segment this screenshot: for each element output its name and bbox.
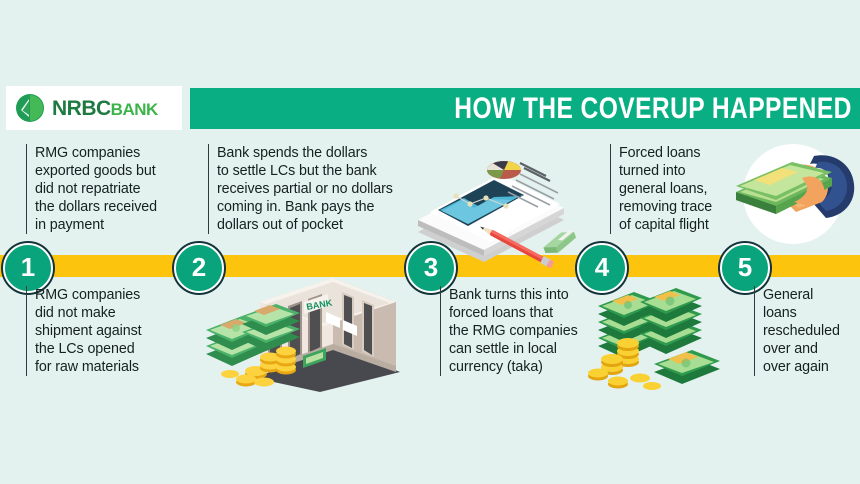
step-1-bottom-text: RMG companies did not make shipment agai…	[26, 286, 196, 376]
step-5-bottom-text: General loans rescheduled over and over …	[754, 286, 859, 376]
header-bar: HOW THE COVERUP HAPPENED	[190, 88, 860, 129]
step-3-bottom-text: Bank turns this into forced loans that t…	[440, 286, 600, 376]
page-title: HOW THE COVERUP HAPPENED	[454, 94, 852, 124]
step-number-3: 3	[424, 254, 438, 280]
logo-bank-text: BANK	[111, 100, 158, 119]
cash-stacks-with-coins-icon	[592, 292, 747, 405]
nrbc-bank-logo: NRBCBANK	[6, 86, 182, 130]
hand-holding-cash-icon	[726, 142, 860, 257]
bank-building-with-cash-icon: BANK	[200, 250, 405, 400]
step-4-top-text: Forced loans turned into general loans, …	[610, 144, 738, 234]
step-number-2: 2	[192, 254, 206, 280]
step-number-1: 1	[21, 254, 35, 280]
circle-leaf-logo-icon	[15, 93, 45, 123]
step-number-4: 4	[595, 254, 609, 280]
step-number-5: 5	[738, 254, 752, 280]
step-1-top-text: RMG companies exported goods but did not…	[26, 144, 191, 234]
logo-nrbc-text: NRBC	[52, 97, 111, 120]
infographic-canvas: NRBCBANK HOW THE COVERUP HAPPENED	[0, 0, 860, 484]
step-2-top-text: Bank spends the dollars to settle LCs bu…	[208, 144, 408, 234]
logo-wordmark: NRBCBANK	[52, 98, 158, 119]
